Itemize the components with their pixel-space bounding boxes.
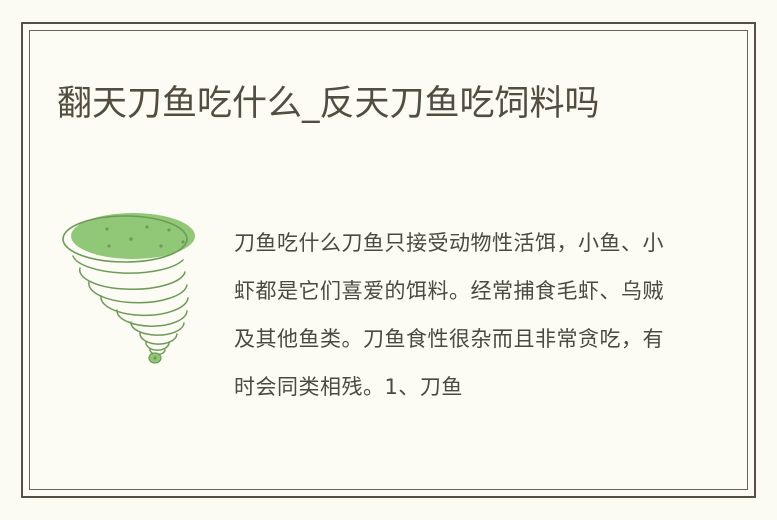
article-body-text: 刀鱼吃什么刀鱼只接受动物性活饵，小鱼、小虾都是它们喜爱的饵料。经常捕食毛虾、乌贼… [234, 219, 664, 411]
page-title: 翻天刀鱼吃什么_反天刀鱼吃饲料吗 [57, 78, 677, 130]
article-card-content: 翻天刀鱼吃什么_反天刀鱼吃饲料吗 [29, 30, 748, 490]
article-thumbnail [55, 206, 205, 371]
screenshot-root: 翻天刀鱼吃什么_反天刀鱼吃饲料吗 [0, 0, 777, 520]
article-body-block: 刀鱼吃什么刀鱼只接受动物性活饵，小鱼、小虾都是它们喜爱的饵料。经常捕食毛虾、乌贼… [29, 198, 748, 468]
tornado-icon [55, 206, 205, 371]
